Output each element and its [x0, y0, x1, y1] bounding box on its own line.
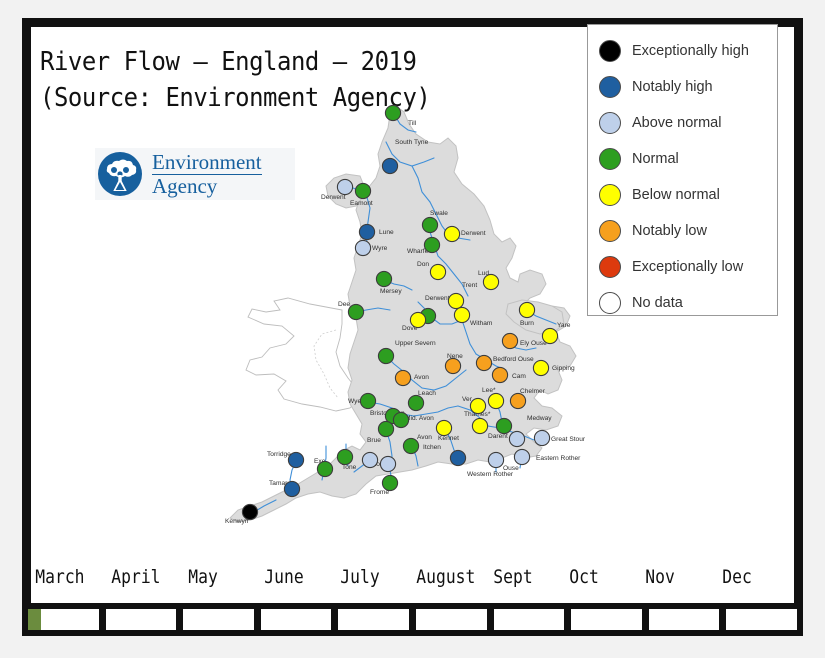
river-flow-infographic: River Flow – England – 2019 (Source: Env… [0, 0, 825, 658]
legend-swatch-icon [599, 256, 621, 278]
station-marker[interactable] [483, 274, 498, 289]
river-label: Dee [338, 301, 350, 308]
month-label[interactable]: Sept [489, 560, 555, 594]
river-label: Avon [417, 434, 432, 441]
month-label[interactable]: July [336, 560, 402, 594]
legend-item[interactable]: Exceptionally low [588, 249, 777, 285]
river-label: Don [417, 261, 429, 268]
station-marker[interactable] [430, 264, 445, 279]
station-marker[interactable] [476, 355, 491, 370]
station-marker[interactable] [395, 370, 410, 385]
legend-panel: Exceptionally highNotably highAbove norm… [587, 24, 778, 316]
month-label[interactable]: Nov [641, 560, 707, 594]
station-marker[interactable] [337, 449, 352, 464]
station-marker[interactable] [470, 398, 485, 413]
wales-outline [246, 298, 358, 411]
legend-swatch-icon [599, 220, 621, 242]
legend-item[interactable]: Above normal [588, 105, 777, 141]
legend-item-label: Notably high [632, 79, 713, 95]
station-marker[interactable] [454, 307, 469, 322]
legend-item[interactable]: Notably high [588, 69, 777, 105]
station-marker[interactable] [362, 452, 377, 467]
river-label: Itchen [423, 444, 441, 451]
river-label: Gipping [552, 365, 575, 372]
station-marker[interactable] [542, 328, 557, 343]
river-label: Eamont [350, 200, 373, 207]
station-marker[interactable] [355, 240, 370, 255]
river-label: Ouse [503, 465, 519, 472]
month-label[interactable]: Dec [718, 560, 784, 594]
month-axis: MarchAprilMayJuneJulyAugustSeptOctNovDec [31, 560, 794, 594]
river-label: Upper Severn [395, 340, 436, 347]
station-marker[interactable] [408, 395, 423, 410]
legend-item-label: Above normal [632, 115, 721, 131]
river-label: Wye [348, 398, 361, 405]
river-label: Cam [512, 373, 526, 380]
station-marker[interactable] [424, 237, 439, 252]
month-bar-cell[interactable] [183, 609, 254, 630]
station-marker[interactable] [444, 226, 459, 241]
england-river-flow-map: TillSouth TyneDerwentEamontLuneWyreSwale… [190, 98, 590, 533]
river-label: Mid. Avon [405, 415, 434, 422]
river-label: Swale [430, 210, 448, 217]
river-label: Torridge [267, 451, 291, 458]
legend-item[interactable]: No data [588, 285, 777, 321]
river-label: Chelmer [520, 388, 546, 395]
station-marker[interactable] [382, 158, 397, 173]
month-bar-cell[interactable] [338, 609, 409, 630]
station-marker[interactable] [533, 360, 548, 375]
river-label: Western Rother [467, 471, 514, 478]
station-marker[interactable] [448, 293, 463, 308]
river-label: Kenwyn [225, 518, 249, 525]
river-label: Kennet [438, 435, 459, 442]
river-label: Wyre [372, 245, 388, 252]
legend-swatch-icon [599, 148, 621, 170]
river-label: Avon [414, 374, 429, 381]
month-bar-cell[interactable] [649, 609, 720, 630]
wales-inner-dash [314, 330, 338, 398]
legend-swatch-icon [599, 40, 621, 62]
station-marker[interactable] [502, 333, 517, 348]
legend-swatch-icon [599, 292, 621, 314]
station-marker[interactable] [376, 271, 391, 286]
month-bar-cell[interactable] [494, 609, 565, 630]
month-bar-cell[interactable] [261, 609, 332, 630]
environment-agency-tree-icon [97, 151, 143, 197]
station-marker[interactable] [403, 438, 418, 453]
month-label[interactable]: Oct [565, 560, 631, 594]
station-marker[interactable] [492, 367, 507, 382]
station-marker[interactable] [496, 418, 511, 433]
legend-item[interactable]: Notably low [588, 213, 777, 249]
river-label: Burn [520, 320, 534, 327]
month-bar-fill [28, 609, 41, 630]
month-bar-cell[interactable] [571, 609, 642, 630]
river-label: Witham [470, 320, 493, 327]
station-marker[interactable] [445, 358, 460, 373]
month-bar-cell[interactable] [416, 609, 487, 630]
station-marker[interactable] [382, 475, 397, 490]
river-label: Mersey [380, 288, 402, 295]
station-marker[interactable] [410, 312, 425, 327]
legend-item-label: No data [632, 295, 683, 311]
month-label[interactable]: June [260, 560, 326, 594]
legend-item-label: Notably low [632, 223, 707, 239]
river-label: Eastern Rother [536, 455, 581, 462]
river-label: Derwent [461, 230, 486, 237]
station-marker[interactable] [488, 452, 503, 467]
station-marker[interactable] [284, 481, 299, 496]
river-label: Yare [557, 322, 571, 329]
station-marker[interactable] [380, 456, 395, 471]
station-marker[interactable] [436, 420, 451, 435]
station-marker[interactable] [348, 304, 363, 319]
river-label: Derwent [321, 194, 346, 201]
legend-swatch-icon [599, 76, 621, 98]
month-bar-cell[interactable] [106, 609, 177, 630]
legend-item-label: Below normal [632, 187, 720, 203]
month-progress-bar [22, 603, 803, 636]
month-label[interactable]: August [412, 560, 478, 594]
station-marker[interactable] [472, 418, 487, 433]
station-marker[interactable] [242, 504, 257, 519]
station-marker[interactable] [378, 421, 393, 436]
river-label: Bedford Ouse [493, 356, 534, 363]
river-label: Brue [367, 437, 381, 444]
legend-item[interactable]: Below normal [588, 177, 777, 213]
station-marker[interactable] [422, 217, 437, 232]
river-label: Great Stour [551, 436, 586, 443]
station-marker[interactable] [514, 449, 529, 464]
station-marker[interactable] [317, 461, 332, 476]
map-svg: TillSouth TyneDerwentEamontLuneWyreSwale… [190, 98, 590, 533]
month-label[interactable]: May [184, 560, 250, 594]
river-label: Trent [462, 282, 477, 289]
station-marker[interactable] [288, 452, 303, 467]
legend-swatch-icon [599, 112, 621, 134]
station-marker[interactable] [519, 302, 534, 317]
station-marker[interactable] [355, 183, 370, 198]
station-marker[interactable] [378, 348, 393, 363]
river-label: Derwent [425, 295, 450, 302]
river-label: Ely Ouse [520, 340, 547, 347]
month-label[interactable]: March [31, 560, 97, 594]
station-marker[interactable] [450, 450, 465, 465]
legend-item[interactable]: Normal [588, 141, 777, 177]
station-marker[interactable] [385, 105, 400, 120]
legend-item-label: Normal [632, 151, 679, 167]
month-bar-cell[interactable] [28, 609, 99, 630]
station-marker[interactable] [510, 393, 525, 408]
station-marker[interactable] [360, 393, 375, 408]
month-label[interactable]: April [107, 560, 173, 594]
river-label: Medway [527, 415, 552, 422]
station-marker[interactable] [509, 431, 524, 446]
river-label: Till [408, 120, 417, 127]
month-bar-cell[interactable] [726, 609, 797, 630]
legend-item[interactable]: Exceptionally high [588, 33, 777, 69]
river-label: Lee* [482, 387, 496, 394]
station-marker[interactable] [359, 224, 374, 239]
river-label: Leach [418, 390, 436, 397]
legend-swatch-icon [599, 184, 621, 206]
station-marker[interactable] [488, 393, 503, 408]
river-label: Lune [379, 229, 394, 236]
legend-item-label: Exceptionally high [632, 43, 749, 59]
station-marker[interactable] [393, 412, 408, 427]
station-marker[interactable] [337, 179, 352, 194]
legend-item-label: Exceptionally low [632, 259, 743, 275]
station-marker[interactable] [534, 430, 549, 445]
river-label: South Tyne [395, 139, 429, 146]
